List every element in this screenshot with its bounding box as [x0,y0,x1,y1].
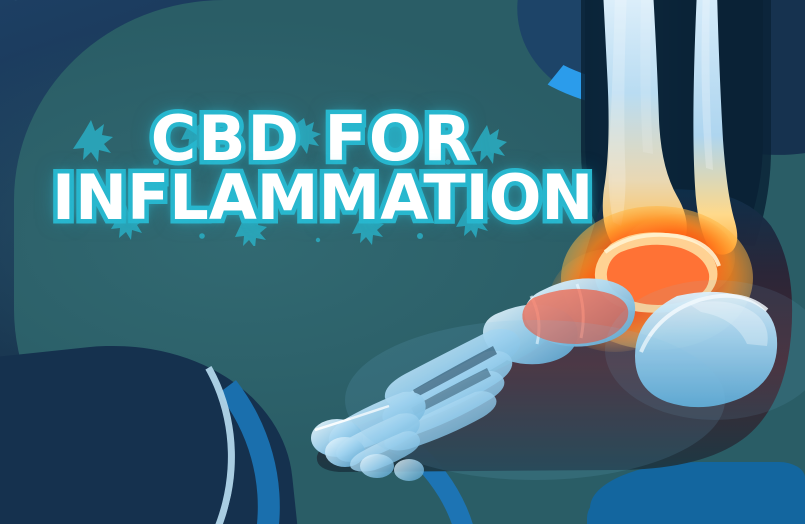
cbd-inflammation-banner: CBD FOR INFLAMMATION [0,0,805,524]
ankle-xray-illustration [285,0,805,524]
